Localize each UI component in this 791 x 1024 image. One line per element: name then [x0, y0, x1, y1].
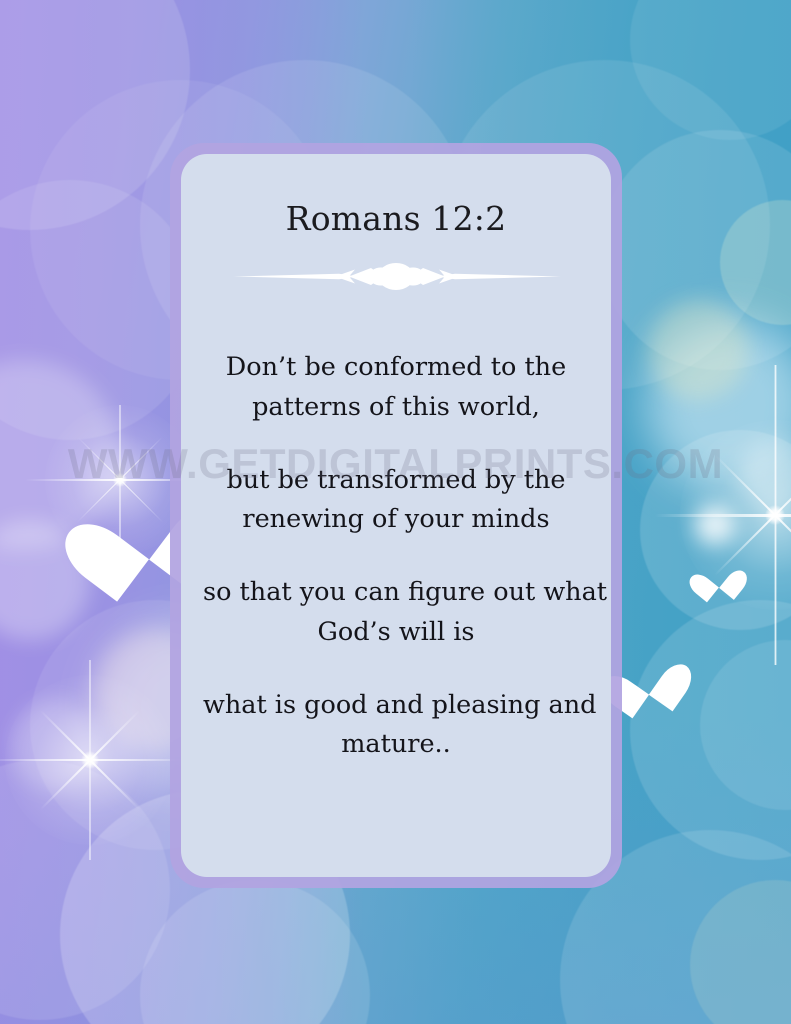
bokeh-circle	[10, 700, 100, 790]
sparkle-lower-left-icon	[0, 660, 190, 860]
heart-medium-right-icon	[697, 558, 737, 597]
bokeh-circle	[700, 640, 791, 810]
verse-card: Romans 12:2	[181, 154, 611, 877]
bokeh-circle	[720, 200, 791, 325]
bokeh-circle	[0, 520, 90, 640]
verse-stanza: but be transformed by the renewing of yo…	[203, 461, 589, 540]
bokeh-circle	[645, 320, 791, 490]
bokeh-circle	[690, 880, 791, 1024]
bokeh-circle	[740, 440, 791, 510]
bokeh-circle	[140, 880, 370, 1024]
bokeh-circle	[600, 130, 791, 370]
verse-text: Don’t be conformed to the patterns of th…	[181, 296, 611, 764]
verse-line: mature..	[203, 725, 589, 764]
sparkle-right-icon	[660, 400, 791, 630]
verse-line: Don’t be conformed to the	[203, 348, 589, 387]
verse-stanza: what is good and pleasing and mature..	[203, 686, 589, 765]
bokeh-circle	[695, 505, 735, 545]
bokeh-circle	[630, 0, 791, 140]
bokeh-circle	[0, 360, 120, 550]
verse-stanza: so that you can figure out what God’s wi…	[203, 573, 589, 652]
verse-card-frame: Romans 12:2	[170, 143, 622, 888]
page-title: Romans 12:2	[181, 154, 611, 237]
verse-line: renewing of your minds	[203, 500, 589, 539]
verse-line: patterns of this world,	[203, 388, 589, 427]
bokeh-circle	[630, 600, 791, 860]
verse-line: but be transformed by the	[203, 461, 589, 500]
bokeh-circle	[0, 0, 190, 230]
bokeh-circle	[648, 300, 748, 400]
verse-line: God’s will is	[203, 613, 589, 652]
verse-line: what is good and pleasing and	[203, 686, 589, 725]
bokeh-circle	[640, 430, 791, 630]
ornamental-flourish-divider-icon	[231, 256, 561, 296]
verse-stanza: Don’t be conformed to the patterns of th…	[203, 348, 589, 427]
bokeh-circle	[0, 760, 170, 1020]
verse-line: so that you can figure out what	[203, 573, 589, 612]
heart-bottom-right-icon	[613, 645, 680, 710]
poster-canvas: Romans 12:2	[0, 0, 791, 1024]
